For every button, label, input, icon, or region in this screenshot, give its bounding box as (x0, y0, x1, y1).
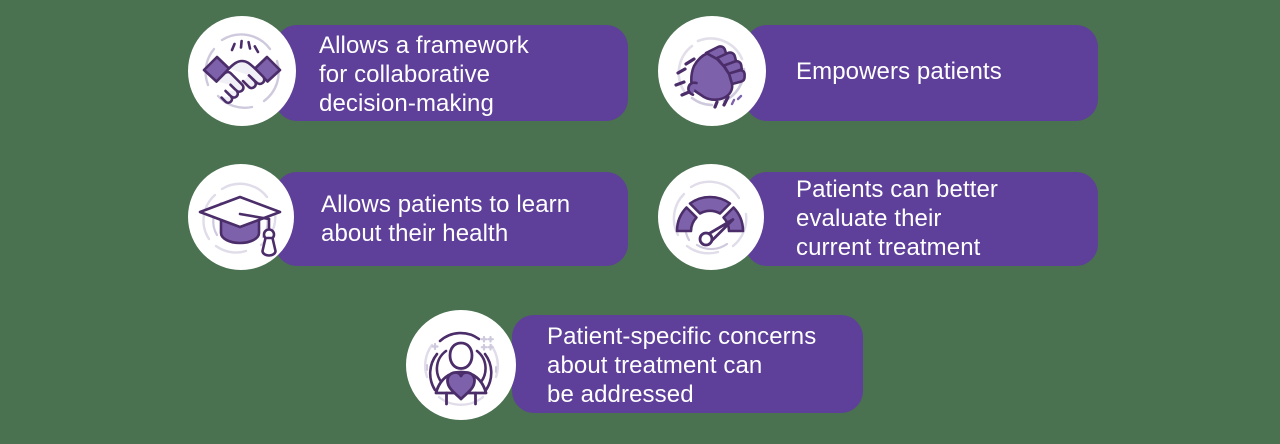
benefit-card-label: Empowers patients (796, 57, 1086, 86)
benefit-card-empowers-patients[interactable]: Empowers patients (658, 16, 1098, 126)
benefit-card-patient-concerns[interactable]: Patient-specific concerns about treatmen… (406, 306, 863, 422)
benefit-card-label: Allows a framework for collaborative dec… (319, 31, 609, 118)
benefit-card-evaluate-treatment[interactable]: Patients can better evaluate their curre… (658, 164, 1098, 270)
benefit-card-label: Allows patients to learn about their hea… (321, 190, 616, 248)
gauge-icon (658, 164, 764, 270)
benefit-card-patient-learning[interactable]: Allows patients to learn about their hea… (188, 164, 628, 270)
benefit-card-collaborative-decision-making[interactable]: Allows a framework for collaborative dec… (188, 16, 628, 126)
benefits-card-list: Allows a framework for collaborative dec… (0, 0, 1280, 444)
patient-heart-icon (406, 310, 516, 420)
graduation-cap-icon (188, 164, 294, 270)
handshake-icon (188, 16, 296, 126)
raised-fist-icon (658, 16, 766, 126)
benefit-card-label: Patient-specific concerns about treatmen… (547, 322, 857, 409)
benefit-card-label: Patients can better evaluate their curre… (796, 175, 1091, 262)
